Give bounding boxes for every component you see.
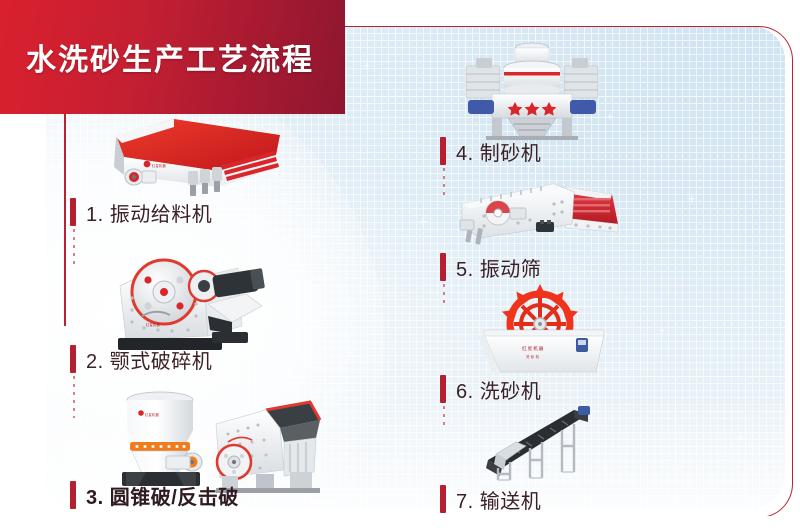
sand-maker-icon <box>452 40 612 140</box>
svg-text:红星机器: 红星机器 <box>522 345 544 352</box>
cone-crusher-icon: 红星机器 <box>104 386 216 492</box>
step-2-marker <box>70 345 76 373</box>
svg-text:洗砂机: 洗砂机 <box>526 354 540 359</box>
cone-crusher-image: 红星机器 <box>104 386 216 492</box>
jaw-crusher-image: 红星机器 <box>112 250 300 356</box>
flow-step-belt-conveyor[interactable]: 7. 输送机 <box>440 398 740 508</box>
svg-text:红星机器: 红星机器 <box>152 163 166 168</box>
flow-step-vibrating-screen[interactable]: 5. 振动筛 <box>440 160 740 278</box>
step-7-label: 7. 输送机 <box>456 485 541 514</box>
step-3-label-row[interactable]: 3. 圆锥破/反击破 <box>70 480 239 510</box>
flow-step-cone-impact-crusher[interactable]: 红星机器 <box>70 380 390 510</box>
flow-step-sand-washer[interactable]: 红星机器 洗砂机 6. 洗砂机 <box>440 278 740 398</box>
impact-crusher-image <box>210 394 346 494</box>
step-7-marker <box>440 485 446 513</box>
page-title: 水洗砂生产工艺流程 <box>26 35 314 79</box>
step-1-label-row[interactable]: 1. 振动给料机 <box>70 197 212 227</box>
step-2-label: 2. 颚式破碎机 <box>86 345 212 374</box>
vibrating-feeder-icon: 红星机器 <box>98 105 294 197</box>
vibrating-screen-image <box>454 168 624 254</box>
flow-column-right: 4. 制砂机 <box>440 40 740 508</box>
sand-washer-image: 红星机器 洗砂机 <box>478 280 610 378</box>
belt-conveyor-icon <box>478 398 602 482</box>
impact-crusher-icon <box>210 394 346 494</box>
step-3-marker <box>70 481 76 509</box>
vibrating-feeder-image: 红星机器 <box>98 105 294 197</box>
step-3-label: 3. 圆锥破/反击破 <box>86 481 239 510</box>
step-1-label: 1. 振动给料机 <box>86 198 212 227</box>
flow-step-sand-making-machine[interactable]: 4. 制砂机 <box>440 40 740 160</box>
svg-text:红星机器: 红星机器 <box>146 322 160 327</box>
jaw-crusher-icon: 红星机器 <box>112 250 300 356</box>
title-banner: 水洗砂生产工艺流程 <box>0 0 345 114</box>
flow-step-vibrating-feeder[interactable]: 红星机器 1. 振动给料机 <box>70 105 390 240</box>
flow-column-left: 红星机器 1. 振动给料机 <box>70 105 390 510</box>
infographic-stage: 红星机器 1. 振动给料机 <box>0 0 800 530</box>
step-1-marker <box>70 198 76 226</box>
sand-making-machine-image <box>452 40 612 140</box>
svg-text:红星机器: 红星机器 <box>145 412 159 417</box>
sand-washer-icon: 红星机器 洗砂机 <box>478 280 610 378</box>
step-2-label-row[interactable]: 2. 颚式破碎机 <box>70 344 212 374</box>
belt-conveyor-image <box>478 398 602 482</box>
bottom-white-margin <box>0 516 800 530</box>
step-7-label-row[interactable]: 7. 输送机 <box>440 484 541 514</box>
flow-step-jaw-crusher[interactable]: 红星机器 2. 颚式破碎机 <box>70 240 390 380</box>
step-5-marker <box>440 253 446 281</box>
vibrating-screen-icon <box>454 168 624 254</box>
